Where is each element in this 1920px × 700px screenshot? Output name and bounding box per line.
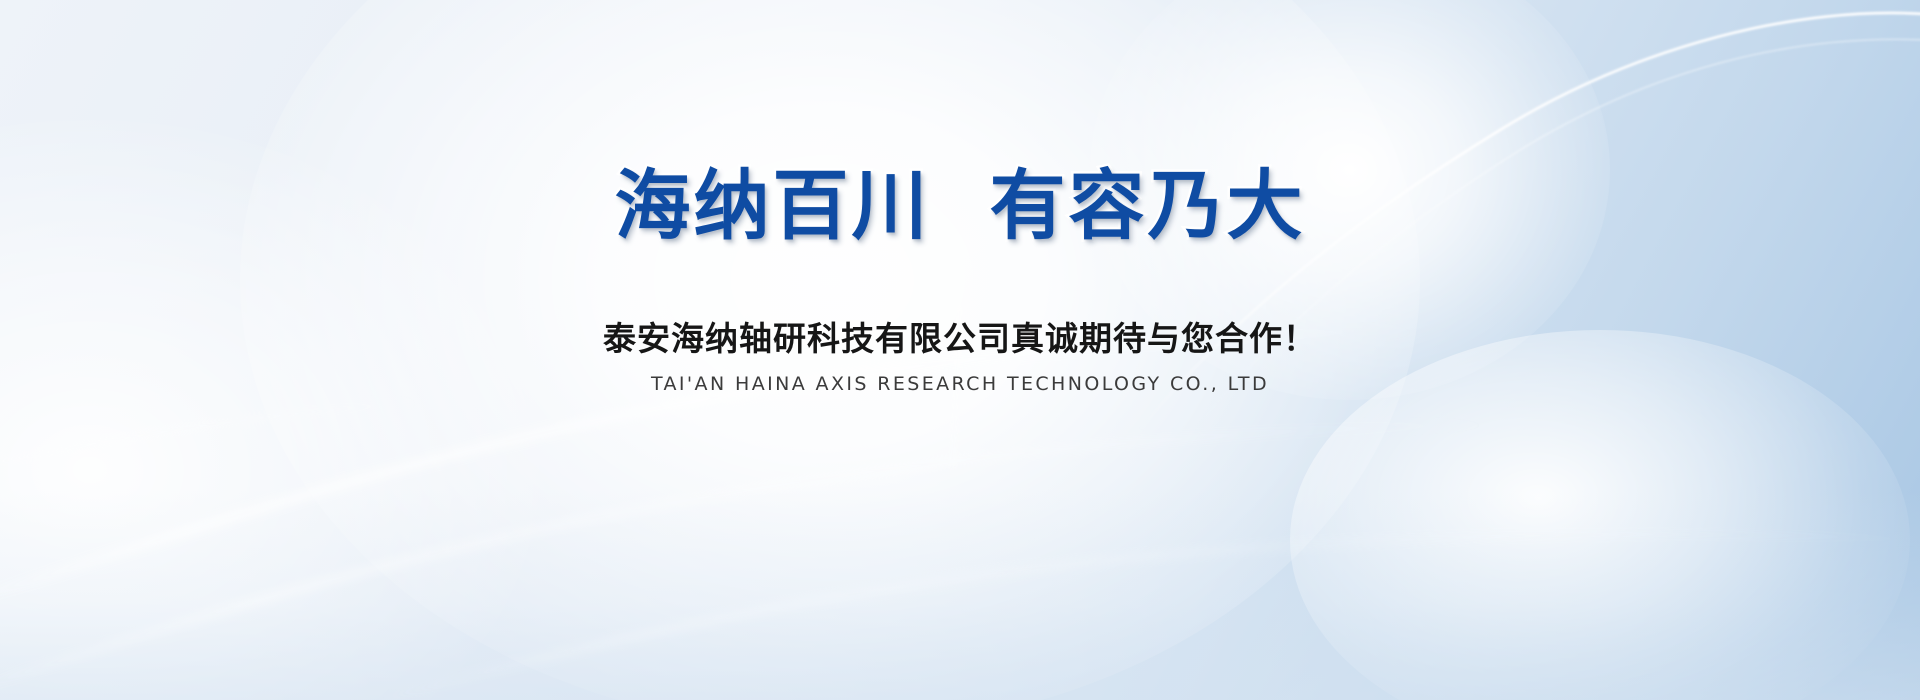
banner-headline: 海纳百川 有容乃大 xyxy=(615,168,1306,244)
banner-content: 海纳百川 有容乃大 泰安海纳轴研科技有限公司真诚期待与您合作！ TAI'AN H… xyxy=(0,0,1920,700)
hero-banner: 海纳百川 有容乃大 泰安海纳轴研科技有限公司真诚期待与您合作！ TAI'AN H… xyxy=(0,0,1920,700)
banner-subtitle-english: TAI'AN HAINA AXIS RESEARCH TECHNOLOGY CO… xyxy=(651,375,1269,394)
banner-subtitle-chinese: 泰安海纳轴研科技有限公司真诚期待与您合作！ xyxy=(603,322,1317,355)
